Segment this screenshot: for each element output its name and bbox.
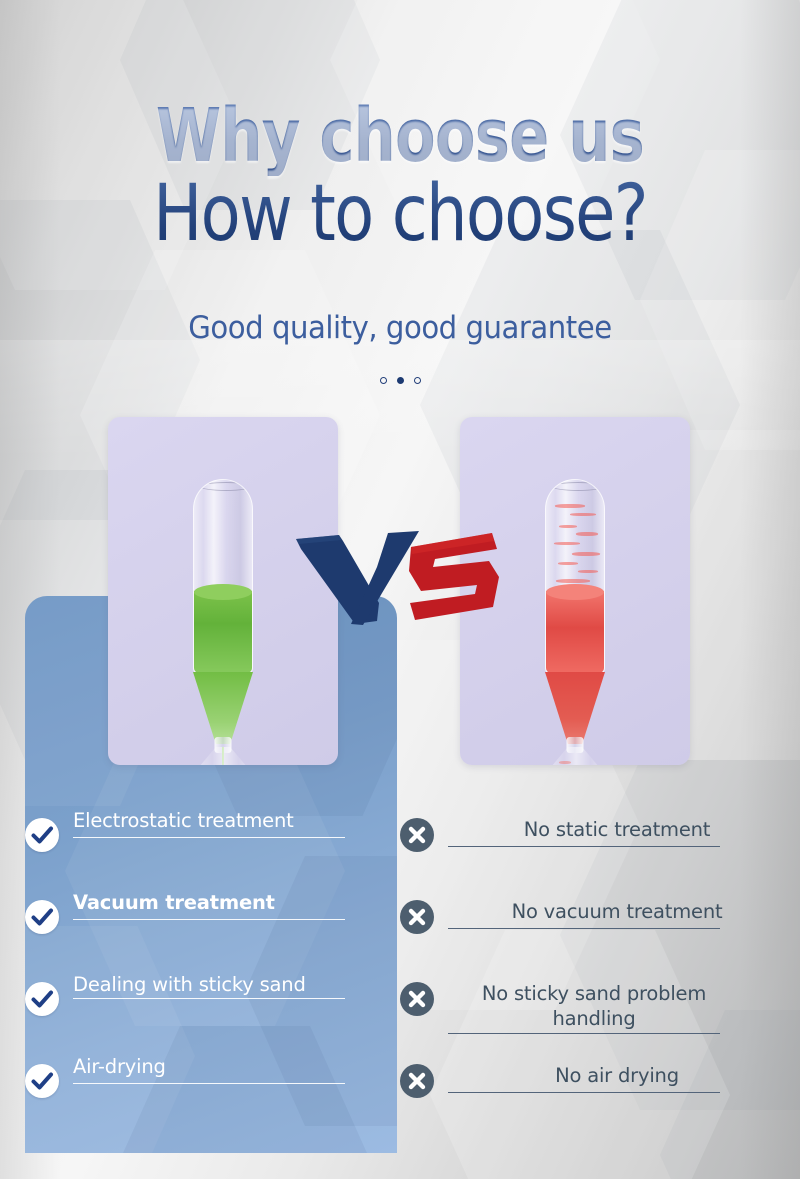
- cons-item-label: No vacuum treatment: [448, 890, 780, 924]
- check-circle-icon: [25, 900, 59, 934]
- cons-item-label: No sticky sand problem handling: [448, 972, 734, 1031]
- pros-item[interactable]: Electrostatic treatment: [25, 808, 397, 890]
- cons-item[interactable]: No vacuum treatment: [400, 890, 780, 972]
- carousel-dot-3[interactable]: [414, 377, 421, 384]
- pros-item-body: Dealing with sticky sand: [73, 972, 397, 999]
- green-sand-funnel: [193, 672, 253, 744]
- headline-primary: Why choose us: [80, 96, 720, 176]
- hourglass-icon-red: [542, 479, 608, 759]
- pros-item-label: Air-drying: [73, 1046, 166, 1078]
- pros-item-underline: [73, 837, 345, 838]
- good-product-card[interactable]: [108, 417, 338, 765]
- hourglass-funnel: [193, 672, 253, 744]
- cons-item-underline: [448, 846, 720, 847]
- hourglass-funnel: [545, 672, 605, 744]
- poster-root: Why choose us How to choose? Good qualit…: [0, 0, 800, 1179]
- bad-product-card[interactable]: [460, 417, 690, 765]
- pros-list: Electrostatic treatment Vacuum treatment…: [25, 808, 397, 1136]
- pros-item[interactable]: Dealing with sticky sand: [25, 972, 397, 1054]
- hourglass-lower-chamber: [193, 747, 253, 765]
- cons-item-body: No sticky sand problem handling: [448, 972, 780, 1034]
- cons-item[interactable]: No sticky sand problem handling: [400, 972, 780, 1054]
- hourglass-lower-chamber: [545, 747, 605, 765]
- x-circle-icon: [400, 818, 434, 852]
- x-circle-icon: [400, 982, 434, 1016]
- cons-item-label: No static treatment: [448, 808, 780, 842]
- pros-item[interactable]: Vacuum treatment: [25, 890, 397, 972]
- pros-item-label: Dealing with sticky sand: [73, 964, 306, 996]
- cons-item[interactable]: No air drying: [400, 1054, 780, 1136]
- cons-item-body: No air drying: [448, 1054, 780, 1093]
- pros-item-underline: [73, 919, 345, 920]
- cons-item-label: No air drying: [448, 1054, 780, 1088]
- carousel-dots[interactable]: [0, 377, 800, 384]
- headline-secondary: How to choose?: [64, 172, 736, 256]
- pros-item-body: Electrostatic treatment: [73, 808, 397, 838]
- pros-item-body: Vacuum treatment: [73, 890, 397, 920]
- red-sand-funnel: [545, 672, 605, 744]
- check-circle-icon: [25, 818, 59, 852]
- carousel-dot-1[interactable]: [380, 377, 387, 384]
- hourglass-upper-chamber: [545, 479, 605, 674]
- red-sand-upper: [546, 591, 604, 673]
- x-circle-icon: [400, 1064, 434, 1098]
- pros-item-body: Air-drying: [73, 1054, 397, 1084]
- cons-list: No static treatment No vacuum treatment …: [400, 808, 780, 1136]
- carousel-dot-2-active[interactable]: [397, 377, 404, 384]
- pros-item-label: Electrostatic treatment: [73, 800, 294, 832]
- cons-item-body: No vacuum treatment: [448, 890, 780, 929]
- cons-item-body: No static treatment: [448, 808, 780, 847]
- hourglass-icon-green: [190, 479, 256, 759]
- pros-item-label: Vacuum treatment: [73, 882, 275, 914]
- pros-item-underline: [73, 998, 345, 999]
- cons-item-underline: [448, 1092, 720, 1093]
- cons-item-underline: [448, 1033, 720, 1034]
- subtitle: Good quality, good guarantee: [24, 310, 776, 346]
- pros-item-underline: [73, 1083, 345, 1084]
- hourglass-upper-chamber: [193, 479, 253, 674]
- check-circle-icon: [25, 982, 59, 1016]
- x-circle-icon: [400, 900, 434, 934]
- cons-item[interactable]: No static treatment: [400, 808, 780, 890]
- green-sand-upper: [194, 591, 252, 673]
- check-circle-icon: [25, 1064, 59, 1098]
- pros-item[interactable]: Air-drying: [25, 1054, 397, 1136]
- cons-item-underline: [448, 928, 720, 929]
